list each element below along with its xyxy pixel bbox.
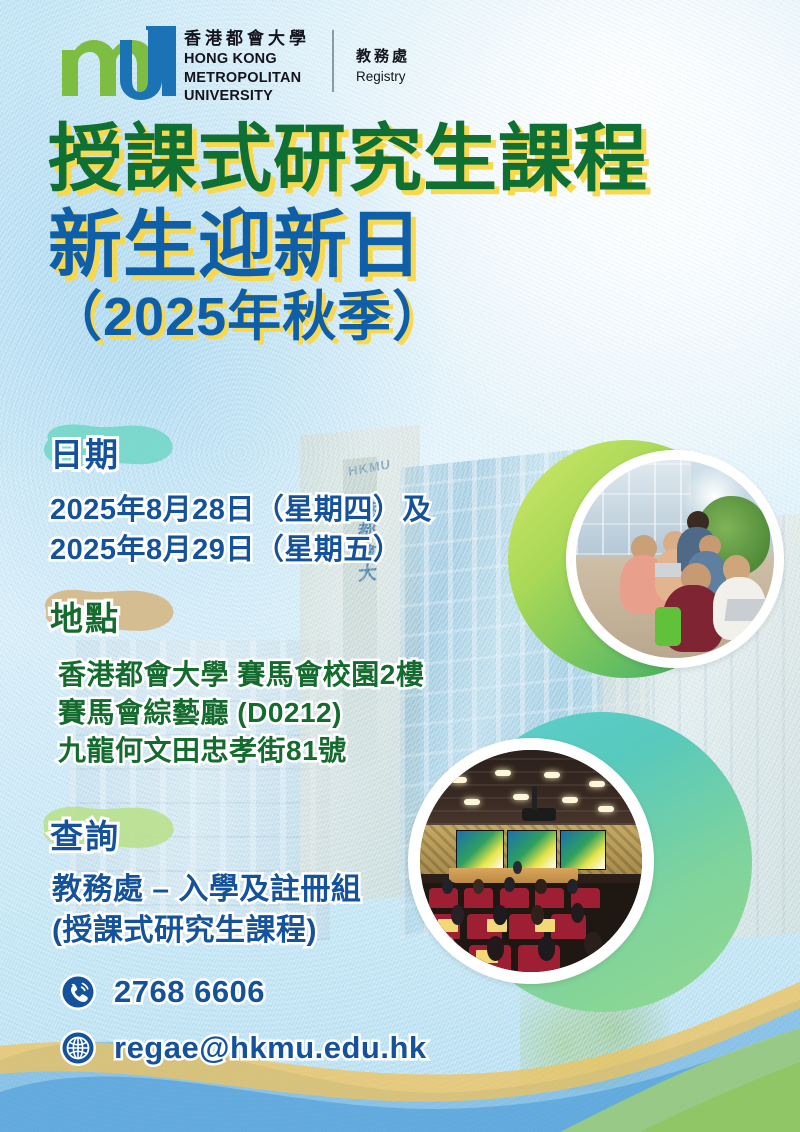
phone-icon: [58, 972, 98, 1012]
unit-block: 教務處 Registry: [332, 26, 410, 85]
enquiry-line-2: (授課式研究生課程): [52, 911, 361, 952]
enquiry-lines: 教務處 – 入學及註冊組 (授課式研究生課程): [50, 870, 361, 952]
title-line-1: 授課式研究生課程: [48, 122, 748, 196]
brand-name-block: 香港都會大學 HONG KONG METROPOLITAN UNIVERSITY: [184, 26, 310, 105]
title-line-2: 新生迎新日: [48, 208, 748, 282]
phone-number: 2768 6606: [114, 974, 265, 1010]
date-lines: 2025年8月28日（星期四）及 2025年8月29日（星期五）: [50, 490, 432, 570]
date-line-2: 2025年8月29日（星期五）: [50, 530, 432, 570]
title-line-3: （2025年秋季）: [48, 290, 748, 344]
contact-phone-row[interactable]: 2768 6606: [58, 972, 427, 1012]
date-heading: 日期: [50, 428, 432, 476]
brand-name-en-line1: HONG KONG: [184, 51, 310, 68]
brand-name-cn: 香港都會大學: [184, 30, 310, 49]
students-discussion-photo: [576, 460, 774, 658]
poster: HKMU 港都會大 香港都會大學 HONG KONG METROPOLITAN …: [0, 0, 800, 1132]
date-line-1: 2025年8月28日（星期四）及: [50, 490, 432, 530]
globe-icon: [58, 1028, 98, 1068]
brand-name-en-line2: METROPOLITAN: [184, 70, 310, 87]
venue-line-3: 九龍何文田忠孝街81號: [58, 732, 424, 770]
section-venue: 地點 香港都會大學 賽馬會校園2樓 賽馬會綜藝廳 (D0212) 九龍何文田忠孝…: [50, 592, 424, 770]
brand-header: 香港都會大學 HONG KONG METROPOLITAN UNIVERSITY…: [58, 26, 410, 105]
venue-heading: 地點: [50, 592, 424, 640]
lecture-hall-photo: [420, 750, 642, 972]
poster-title: 授課式研究生課程 新生迎新日 （2025年秋季）: [48, 122, 748, 344]
section-enquiry: 查詢 教務處 – 入學及註冊組 (授課式研究生課程): [50, 810, 361, 952]
hkmu-logo-icon: [58, 26, 178, 104]
contact-block: 2768 6606 regae@hkmu.edu.hk: [58, 972, 427, 1084]
contact-email-row[interactable]: regae@hkmu.edu.hk: [58, 1028, 427, 1068]
enquiry-line-1: 教務處 – 入學及註冊組: [52, 870, 361, 911]
venue-line-2: 賽馬會綜藝廳 (D0212): [58, 694, 424, 732]
venue-line-1: 香港都會大學 賽馬會校園2樓: [58, 656, 424, 694]
enquiry-heading: 查詢: [50, 810, 361, 858]
unit-name-cn: 教務處: [356, 48, 410, 66]
venue-lines: 香港都會大學 賽馬會校園2樓 賽馬會綜藝廳 (D0212) 九龍何文田忠孝街81…: [50, 656, 424, 770]
section-date: 日期 2025年8月28日（星期四）及 2025年8月29日（星期五）: [50, 428, 432, 570]
unit-name-en: Registry: [356, 69, 410, 85]
brand-name-en-line3: UNIVERSITY: [184, 88, 310, 105]
email-address: regae@hkmu.edu.hk: [114, 1030, 427, 1066]
